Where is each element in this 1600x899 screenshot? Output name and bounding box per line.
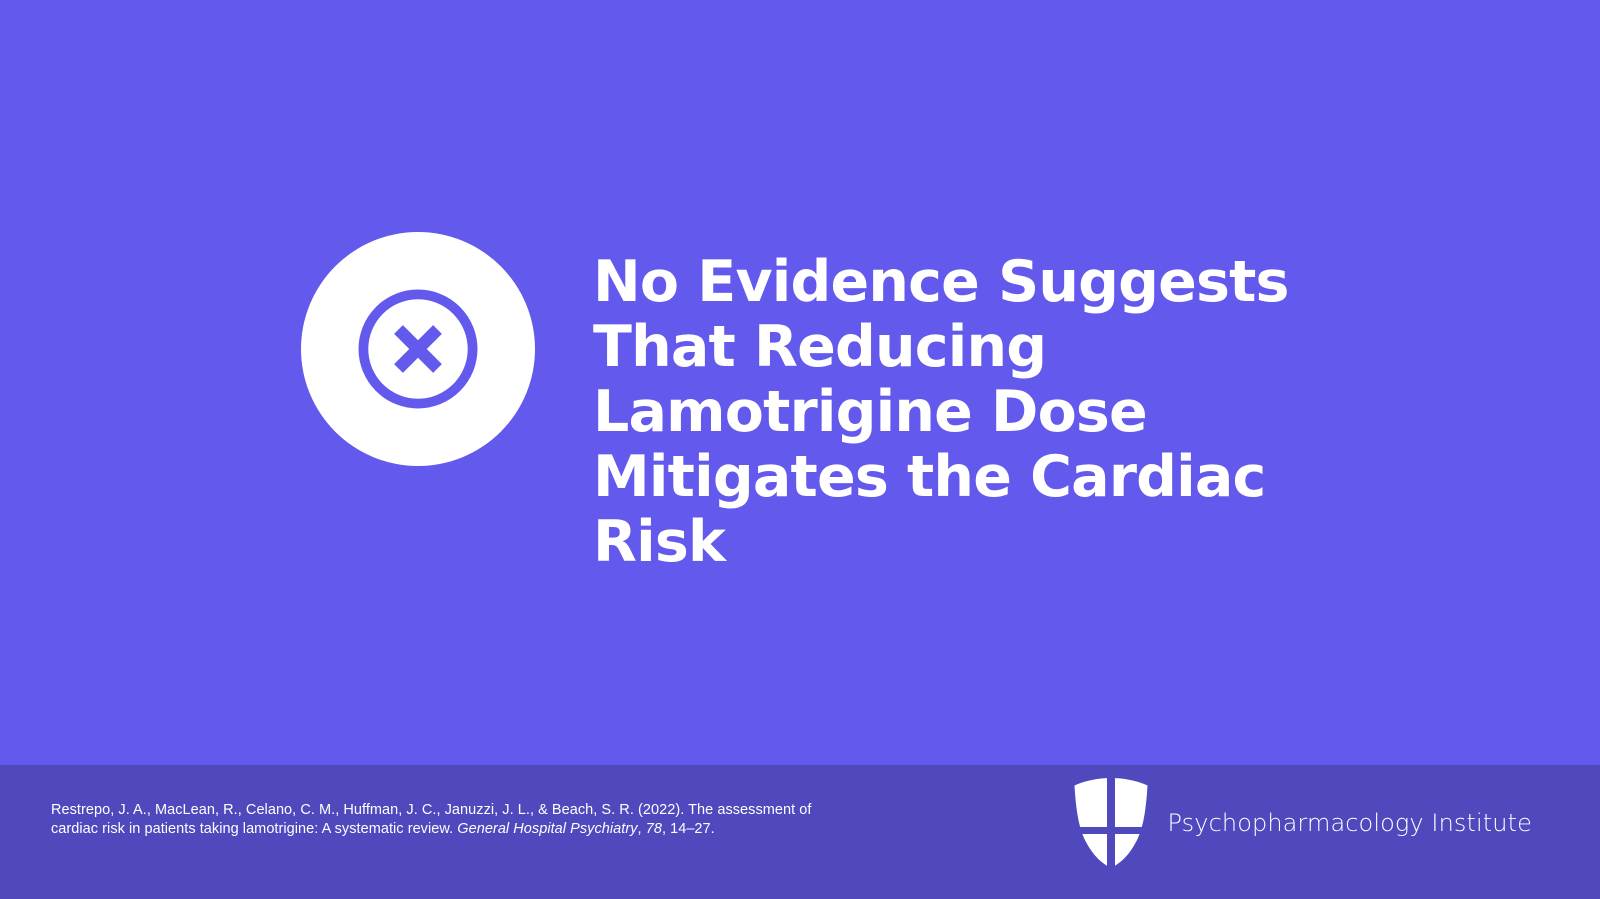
circle-x-icon	[353, 284, 483, 414]
citation-reference: Restrepo, J. A., MacLean, R., Celano, C.…	[51, 801, 841, 839]
citation-authors: Restrepo, J. A., MacLean, R., Celano, C.…	[51, 802, 684, 818]
brand-name: Psychopharmacology Institute	[1168, 809, 1532, 837]
slide-canvas: No Evidence Suggests That Reducing Lamot…	[0, 0, 1600, 899]
page-title: No Evidence Suggests That Reducing Lamot…	[593, 250, 1293, 575]
citation-separator: ,	[638, 821, 646, 837]
citation-journal-name: General Hospital Psychiatry	[457, 821, 637, 837]
circle-x-icon-badge	[301, 232, 535, 466]
shield-quadrant-logo-icon	[1072, 777, 1150, 869]
slide-content-row: No Evidence Suggests That Reducing Lamot…	[0, 232, 1600, 575]
footer-band: Restrepo, J. A., MacLean, R., Celano, C.…	[0, 765, 1600, 899]
brand-lockup: Psychopharmacology Institute	[1072, 777, 1532, 869]
citation-volume: 78	[646, 821, 662, 837]
title-block: No Evidence Suggests That Reducing Lamot…	[593, 232, 1293, 575]
citation-pages: , 14–27.	[662, 821, 715, 837]
